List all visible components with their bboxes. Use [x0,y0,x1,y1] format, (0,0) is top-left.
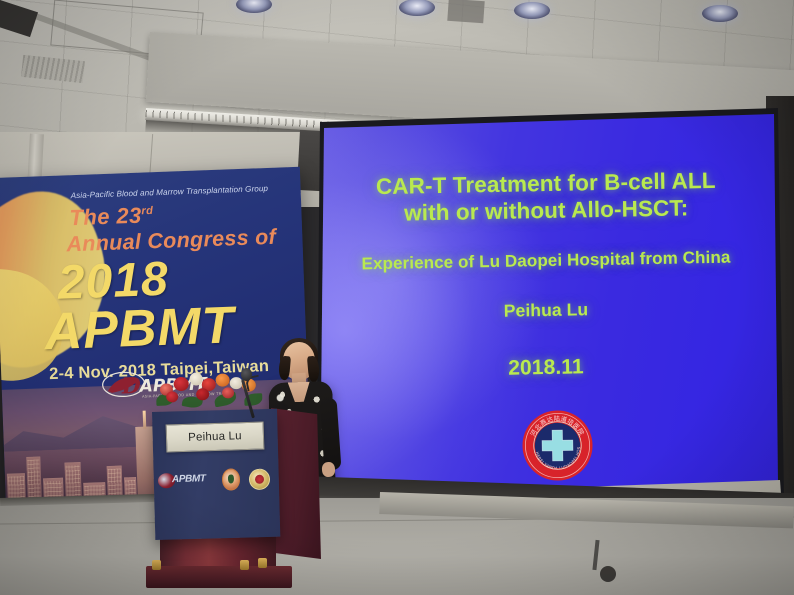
lectern-apbmt-logo-text: APBMT [172,473,206,485]
lectern-apbmt-logo: APBMT [158,472,213,489]
downlight-icon [514,2,550,19]
speaker-hand [321,462,335,478]
speaker-nameplate-text: Peihua Lu [188,430,242,444]
poster-edition: The 23rd [69,202,154,231]
lectern-logo-row: APBMT [158,467,271,494]
cityscape-tower-spire [143,411,147,429]
lectern-foot [240,560,249,570]
poster-acronym: APBMT [44,299,236,358]
speaker-nameplate: Peihua Lu [166,421,265,452]
lectern-foot [152,560,161,570]
microphone-icon [241,368,252,381]
orange-oval-emblem-icon [221,468,240,490]
projection-screen [306,104,786,516]
svg-text:D: D [120,373,141,400]
equipment-cart-wheel [600,566,616,582]
poster-organization: Asia-Pacific Blood and Marrow Transplant… [71,184,271,200]
conference-photo-scene: CAR-T Treatment for B-cell ALL with or w… [0,0,794,595]
ceiling-dark-patch [447,0,484,23]
poster-edition-suffix: rd [141,205,153,217]
lectern-foot [258,558,267,568]
poster-edition-prefix: The 23 [69,203,142,231]
gold-circular-emblem-icon [249,468,270,490]
downlight-icon [702,5,738,22]
lectern-base [146,566,292,588]
